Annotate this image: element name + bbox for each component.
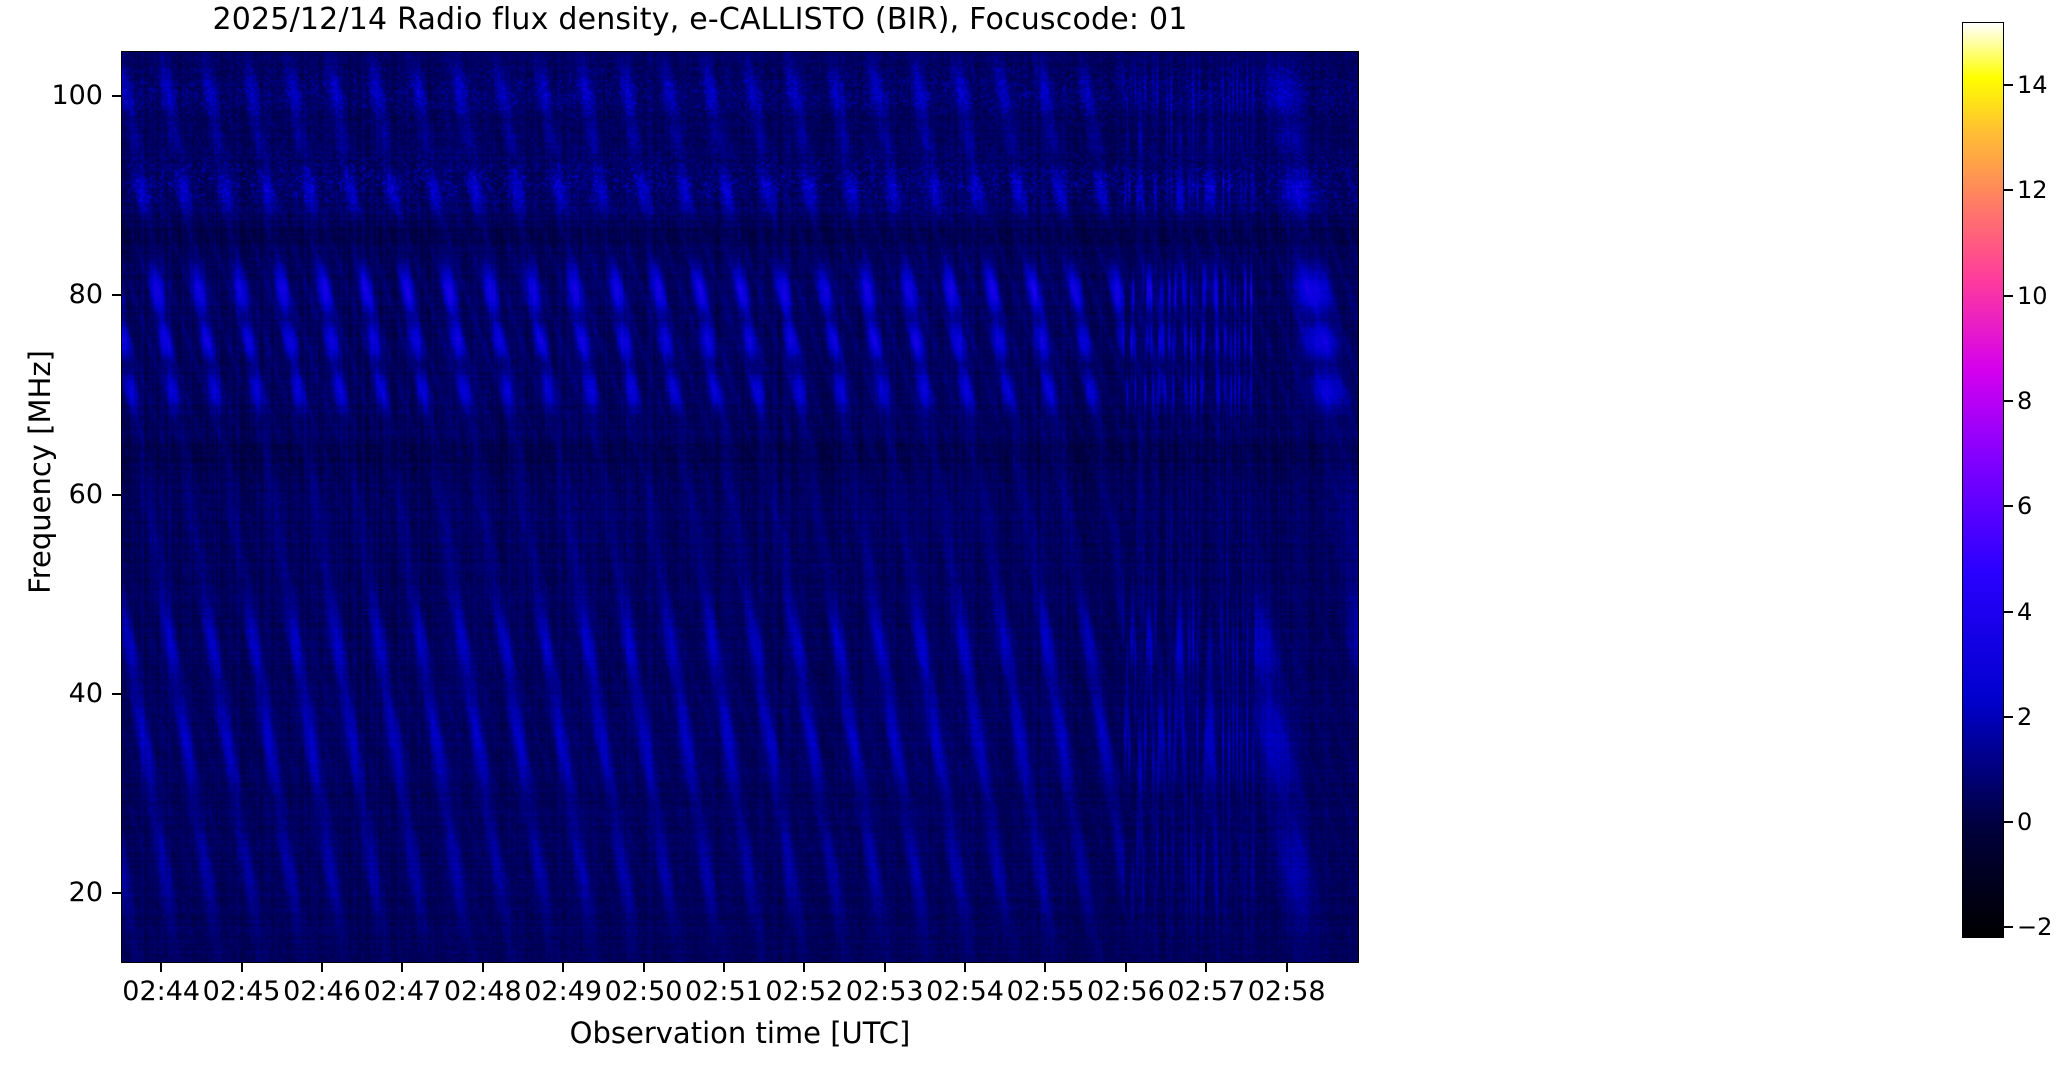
figure-canvas: 2025/12/14 Radio flux density, e-CALLIST… [0,0,2066,1067]
colorbar-gradient [1963,23,2003,937]
x-axis-tick [321,963,323,972]
spectrogram-plot-area[interactable] [121,51,1359,963]
x-axis-tick [723,963,725,972]
x-axis-tick [562,963,564,972]
colorbar-tick [2004,611,2013,613]
colorbar-tick-label: 6 [2017,494,2032,518]
y-axis-tick [112,693,121,695]
y-axis-tick [112,95,121,97]
colorbar-tick [2004,716,2013,718]
x-axis-label: Observation time [UTC] [121,1016,1359,1050]
colorbar-tick-label: 12 [2017,178,2048,202]
y-axis-label: Frequency [MHz] [23,262,57,682]
x-axis-tick [884,963,886,972]
x-axis-tick [482,963,484,972]
colorbar-tick-label: 2 [2017,705,2032,729]
colorbar-tick [2004,295,2013,297]
colorbar-tick [2004,926,2013,928]
colorbar-tick [2004,400,2013,402]
x-axis-tick [401,963,403,972]
x-axis-tick [643,963,645,972]
colorbar-tick-label: 8 [2017,389,2032,413]
colorbar-tick [2004,84,2013,86]
y-axis-tick-label: 100 [8,82,103,109]
y-axis-tick [112,494,121,496]
x-axis-tick [1286,963,1288,972]
colorbar-tick [2004,505,2013,507]
x-axis-tick [1125,963,1127,972]
colorbar-tick-label: 14 [2017,73,2048,97]
colorbar-tick [2004,821,2013,823]
chart-title: 2025/12/14 Radio flux density, e-CALLIST… [0,2,1400,37]
x-axis-tick [803,963,805,972]
x-axis-tick [1044,963,1046,972]
x-axis-tick [241,963,243,972]
colorbar[interactable] [1962,22,2004,938]
spectrogram-image [122,52,1358,962]
colorbar-tick-label: 4 [2017,600,2032,624]
x-axis-tick [1205,963,1207,972]
colorbar-tick-label: 10 [2017,284,2048,308]
y-axis-tick-label: 20 [8,879,103,906]
colorbar-tick-label: −2 [2017,915,2052,939]
y-axis-tick-label: 40 [8,680,103,707]
x-axis-tick [964,963,966,972]
y-axis-tick [112,294,121,296]
colorbar-tick [2004,189,2013,191]
x-axis-tick [160,963,162,972]
colorbar-tick-label: 0 [2017,810,2032,834]
y-axis-tick [112,892,121,894]
x-axis-tick-label: 02:58 [1212,977,1362,1007]
